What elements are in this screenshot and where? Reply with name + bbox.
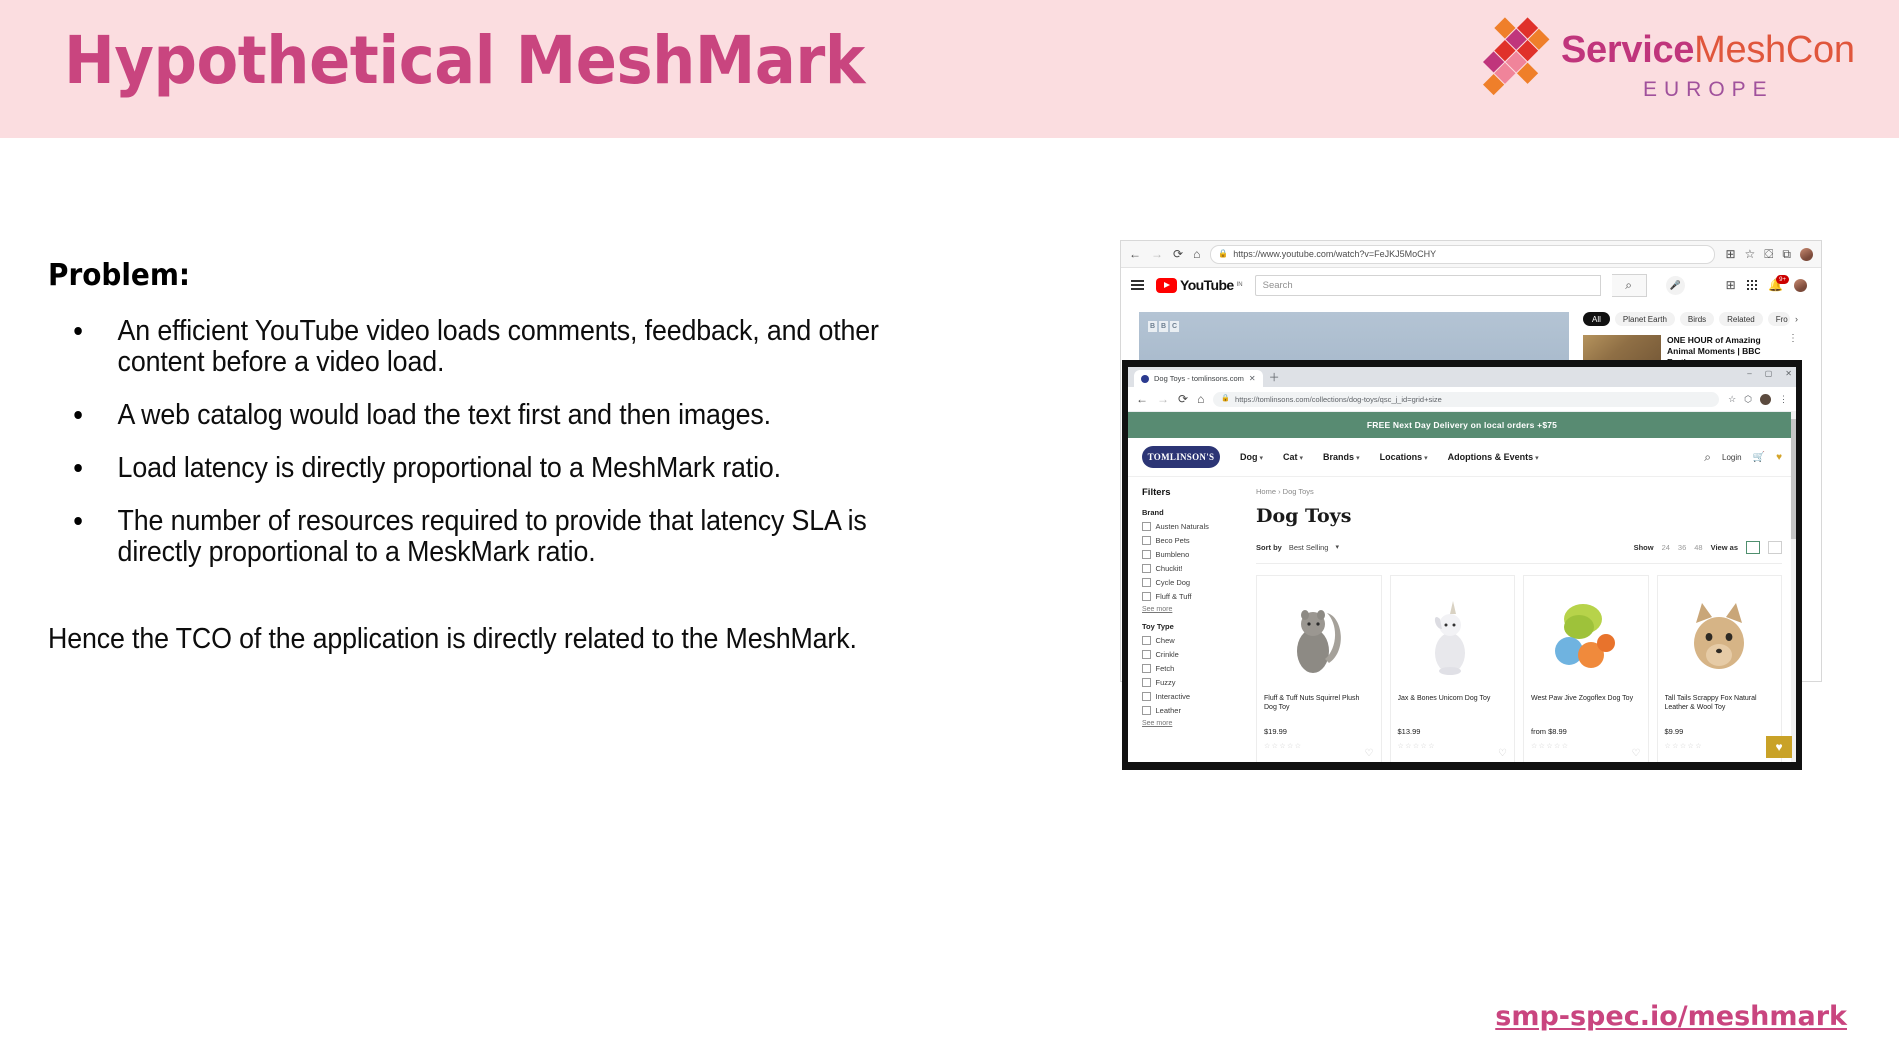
product-rating-stars: ☆☆☆☆☆	[1665, 742, 1775, 750]
filter-chip-row: All Planet Earth Birds Related Fro ›	[1583, 312, 1798, 326]
chevron-down-icon: ▾	[1260, 455, 1264, 462]
product-name: West Paw Jive Zogoflex Dog Toy	[1531, 694, 1641, 722]
view-as-label: View as	[1711, 543, 1738, 552]
meshmark-spec-link[interactable]: smp-spec.io/meshmark	[1495, 1001, 1847, 1032]
filter-option[interactable]: Crinkle	[1142, 650, 1238, 659]
login-link[interactable]: Login	[1722, 453, 1742, 462]
close-window-icon[interactable]: ✕	[1785, 369, 1792, 378]
product-price: $9.99	[1665, 727, 1775, 736]
filter-label: Interactive	[1156, 692, 1191, 701]
watermark-letter: B	[1148, 321, 1157, 332]
see-more-brands-link[interactable]: See more	[1142, 606, 1238, 613]
servicemeshcon-logo: ServiceMeshCon EUROPE	[1457, 12, 1857, 124]
bullet-dot-icon	[74, 464, 82, 472]
filter-label: Leather	[1156, 706, 1181, 715]
close-icon[interactable]: ✕	[1249, 374, 1256, 383]
show-option-36[interactable]: 36	[1678, 543, 1686, 552]
chevron-down-icon: ▾	[1535, 455, 1539, 462]
product-rating-stars: ☆☆☆☆☆	[1398, 742, 1508, 750]
product-grid: Fluff & Tuff Nuts Squirrel Plush Dog Toy…	[1256, 575, 1782, 762]
filters-sidebar: Filters Brand Austen Naturals Beco Pets …	[1142, 487, 1238, 762]
filter-option[interactable]: Fluff & Tuff	[1142, 592, 1238, 601]
see-more-toytypes-link[interactable]: See more	[1142, 720, 1238, 727]
favorite-star-icon[interactable]: ☆	[1728, 394, 1736, 405]
tomlinsons-url-text: https://tomlinsons.com/collections/dog-t…	[1235, 395, 1442, 404]
tomlinsons-address-bar[interactable]: 🔒 https://tomlinsons.com/collections/dog…	[1213, 392, 1719, 407]
checkbox-icon[interactable]	[1142, 578, 1151, 587]
filter-label: Fluff & Tuff	[1156, 592, 1192, 601]
sort-select[interactable]: Best Selling	[1289, 543, 1329, 552]
cart-icon[interactable]: 🛒	[1753, 452, 1765, 463]
store-logo[interactable]: TOMLINSON'S	[1142, 446, 1220, 468]
filters-heading: Filters	[1142, 487, 1238, 498]
watermark-letter: C	[1170, 321, 1179, 332]
nav-label: Adoptions & Events	[1448, 452, 1534, 462]
list-item: The number of resources required to prov…	[48, 506, 913, 568]
lock-icon: 🔒	[1218, 248, 1228, 260]
show-option-24[interactable]: 24	[1662, 543, 1670, 552]
nav-item-adoptions-events[interactable]: Adoptions & Events▾	[1448, 452, 1539, 462]
product-image	[1398, 583, 1508, 687]
list-item: An efficient YouTube video loads comment…	[48, 316, 913, 378]
forward-icon[interactable]: →	[1157, 393, 1169, 405]
catalog-view-controls: Show 24 36 48 View as	[1634, 541, 1782, 554]
wishlist-heart-icon[interactable]: ♡	[1498, 748, 1507, 759]
logo-meshcon-text: MeshCon	[1694, 29, 1855, 71]
tomlinsons-browser-chrome: ← → ⟳ ⌂ 🔒 https://tomlinsons.com/collect…	[1128, 387, 1796, 412]
unicorn-plush-toy-illustration	[1420, 593, 1484, 677]
filter-option[interactable]: Fuzzy	[1142, 678, 1238, 687]
forward-icon[interactable]: →	[1151, 248, 1163, 260]
nav-label: Cat	[1283, 452, 1298, 462]
nav-item-brands[interactable]: Brands▾	[1323, 452, 1360, 462]
favicon-icon	[1141, 375, 1149, 383]
checkbox-icon[interactable]	[1142, 692, 1151, 701]
nav-label: Locations	[1380, 452, 1423, 462]
meshcon-diamond-mark	[1469, 14, 1555, 100]
product-price: $13.99	[1398, 727, 1508, 736]
closing-paragraph: Hence the TCO of the application is dire…	[48, 624, 875, 655]
split-screen-icon[interactable]: ⊞	[1725, 248, 1735, 260]
voice-search-button[interactable]: 🎤	[1666, 276, 1685, 295]
reload-icon[interactable]: ⟳	[1173, 248, 1183, 260]
youtube-masthead-actions: ⊞ 🔔 9+	[1726, 279, 1811, 292]
page-title: Hypothetical MeshMark	[64, 18, 865, 104]
checkbox-icon[interactable]	[1142, 664, 1151, 673]
product-price: $19.99	[1264, 727, 1374, 736]
kebab-menu-icon[interactable]: ⋮	[1779, 394, 1788, 405]
home-icon[interactable]: ⌂	[1193, 248, 1200, 260]
nav-label: Dog	[1240, 452, 1258, 462]
avatar[interactable]	[1794, 279, 1807, 292]
filter-option[interactable]: Leather	[1142, 706, 1238, 715]
notification-count-badge: 9+	[1776, 275, 1789, 284]
youtube-play-icon	[1156, 278, 1177, 293]
checkbox-icon[interactable]	[1142, 706, 1151, 715]
logo-region-text: EUROPE	[1643, 78, 1774, 102]
catalog-layout: Filters Brand Austen Naturals Beco Pets …	[1128, 477, 1796, 762]
hamburger-menu-icon[interactable]	[1131, 280, 1144, 290]
chevron-down-icon: ▾	[1424, 455, 1428, 462]
new-tab-icon[interactable]: ＋	[1265, 369, 1280, 387]
checkbox-icon[interactable]	[1142, 522, 1151, 531]
list-item: Load latency is directly proportional to…	[48, 453, 913, 484]
wishlist-heart-icon[interactable]: ♡	[1632, 748, 1641, 759]
filter-label: Fetch	[1156, 664, 1175, 673]
youtube-url-text: https://www.youtube.com/watch?v=FeJKJ5Mo…	[1233, 249, 1436, 259]
checkbox-icon[interactable]	[1142, 564, 1151, 573]
youtube-logo[interactable]: YouTube IN	[1156, 277, 1243, 293]
filter-label: Cycle Dog	[1156, 578, 1191, 587]
favorite-star-icon[interactable]: ☆	[1745, 248, 1756, 260]
nav-label: Brands	[1323, 452, 1354, 462]
tomlinsons-browser-window: Dog Toys - tomlinsons.com ✕ ＋ – ▢ ✕ ← → …	[1122, 360, 1802, 770]
grid-view-icon[interactable]	[1746, 541, 1760, 554]
product-name: Fluff & Tuff Nuts Squirrel Plush Dog Toy	[1264, 694, 1374, 722]
back-icon[interactable]: ←	[1136, 393, 1148, 405]
search-button[interactable]: ⌕	[1612, 274, 1647, 297]
filter-label: Fuzzy	[1156, 678, 1176, 687]
filter-label: Beco Pets	[1156, 536, 1190, 545]
list-item: A web catalog would load the text first …	[48, 400, 913, 431]
window-controls: – ▢ ✕	[1747, 369, 1792, 378]
bullet-text: Load latency is directly proportional to…	[118, 452, 781, 484]
browser-screenshots-composite: ← → ⟳ ⌂ 🔒 https://www.youtube.com/watch?…	[1120, 240, 1820, 880]
filter-label: Crinkle	[1156, 650, 1179, 659]
filter-label: Chew	[1156, 636, 1175, 645]
microphone-icon: 🎤	[1670, 279, 1681, 291]
product-image	[1531, 583, 1641, 687]
collections-icon[interactable]: ⛋	[1764, 248, 1773, 260]
bullet-text: A web catalog would load the text first …	[118, 399, 771, 431]
notifications-button[interactable]: 🔔 9+	[1768, 279, 1783, 291]
browser-essentials-icon[interactable]: ⧉	[1782, 248, 1791, 260]
checkbox-icon[interactable]	[1142, 550, 1151, 559]
apps-grid-icon[interactable]	[1747, 280, 1757, 290]
youtube-chrome-actions: ⊞ ☆ ⛋ ⧉	[1725, 248, 1813, 261]
filter-group-brand-title: Brand	[1142, 508, 1238, 517]
chevron-down-icon: ▾	[1356, 455, 1360, 462]
youtube-browser-chrome: ← → ⟳ ⌂ 🔒 https://www.youtube.com/watch?…	[1121, 241, 1821, 268]
squirrel-plush-toy-illustration	[1287, 593, 1351, 677]
product-card[interactable]: West Paw Jive Zogoflex Dog Toy from $8.9…	[1523, 575, 1649, 762]
bullet-dot-icon	[74, 517, 82, 525]
product-rating-stars: ☆☆☆☆☆	[1531, 742, 1641, 750]
promo-banner: FREE Next Day Delivery on local orders +…	[1128, 412, 1796, 438]
tomlinsons-chrome-actions: ☆ ⬡ ⋮	[1728, 394, 1788, 405]
logo-wordmark: ServiceMeshCon	[1561, 28, 1855, 72]
filter-option[interactable]: Bumbleno	[1142, 550, 1238, 559]
chip-all[interactable]: All	[1583, 312, 1610, 326]
youtube-masthead: YouTube IN Search ⌕ 🎤 ⊞ 🔔 9+	[1121, 268, 1821, 302]
store-nav-actions: ⌕ Login 🛒 ♥	[1704, 451, 1782, 463]
bullet-text: An efficient YouTube video loads comment…	[118, 315, 879, 378]
back-icon[interactable]: ←	[1129, 248, 1141, 260]
product-image	[1665, 583, 1775, 687]
catalog-page-title: Dog Toys	[1256, 505, 1782, 527]
catalog-main: Home › Dog Toys Dog Toys Sort by Best Se…	[1256, 487, 1782, 762]
product-price: from $8.99	[1531, 727, 1641, 736]
wishlist-floating-button[interactable]: ♥	[1766, 736, 1792, 758]
wishlist-heart-icon[interactable]: ♡	[1365, 748, 1374, 759]
chevron-right-icon[interactable]: ›	[1795, 313, 1798, 325]
show-label: Show	[1634, 543, 1654, 552]
slide-header-band: Hypothetical MeshMark ServiceMeshCon EUR…	[0, 0, 1899, 138]
filter-option[interactable]: Chew	[1142, 636, 1238, 645]
catalog-toolbar: Sort by Best Selling ▾ Show 24 36 48 Vie…	[1256, 541, 1782, 564]
filter-option[interactable]: Cycle Dog	[1142, 578, 1238, 587]
maximize-icon[interactable]: ▢	[1765, 369, 1773, 378]
filter-option[interactable]: Fetch	[1142, 664, 1238, 673]
chip-related[interactable]: Related	[1719, 312, 1763, 326]
product-card[interactable]: Tall Tails Scrappy Fox Natural Leather &…	[1657, 575, 1783, 762]
tomlinsons-tab-bar: Dog Toys - tomlinsons.com ✕ ＋ – ▢ ✕	[1128, 367, 1796, 387]
bullet-text: The number of resources required to prov…	[118, 505, 867, 568]
search-icon[interactable]: ⌕	[1704, 451, 1711, 463]
checkbox-icon[interactable]	[1142, 678, 1151, 687]
chevron-down-icon: ▾	[1300, 455, 1304, 462]
show-option-48[interactable]: 48	[1694, 543, 1702, 552]
product-rating-stars: ☆☆☆☆☆	[1264, 742, 1374, 750]
tab-dog-toys[interactable]: Dog Toys - tomlinsons.com ✕	[1134, 370, 1263, 387]
chip-birds[interactable]: Birds	[1680, 312, 1714, 326]
filter-group-toytype-title: Toy Type	[1142, 622, 1238, 631]
filter-option[interactable]: Beco Pets	[1142, 536, 1238, 545]
nav-item-cat[interactable]: Cat▾	[1283, 452, 1303, 462]
problem-bullet-list: An efficient YouTube video loads comment…	[48, 316, 968, 568]
product-name: Tall Tails Scrappy Fox Natural Leather &…	[1665, 694, 1775, 722]
breadcrumb: Home › Dog Toys	[1256, 487, 1782, 496]
product-name: Jax & Bones Unicorn Dog Toy	[1398, 694, 1508, 722]
checkbox-icon[interactable]	[1142, 650, 1151, 659]
lock-icon: 🔒	[1221, 393, 1230, 405]
product-image	[1264, 583, 1374, 687]
list-view-icon[interactable]	[1768, 541, 1782, 554]
home-icon[interactable]: ⌂	[1197, 393, 1204, 405]
youtube-country-code: IN	[1237, 282, 1243, 288]
product-card[interactable]: Fluff & Tuff Nuts Squirrel Plush Dog Toy…	[1256, 575, 1382, 762]
tab-title: Dog Toys - tomlinsons.com	[1154, 374, 1244, 383]
zogoflex-dog-toy-illustration	[1549, 593, 1623, 677]
wishlist-heart-icon[interactable]: ♥	[1776, 452, 1782, 463]
youtube-address-bar[interactable]: 🔒 https://www.youtube.com/watch?v=FeJKJ5…	[1210, 245, 1715, 264]
filter-label: Bumbleno	[1156, 550, 1190, 559]
filter-label: Austen Naturals	[1156, 522, 1209, 531]
filter-option[interactable]: Chuckit!	[1142, 564, 1238, 573]
filter-option[interactable]: Austen Naturals	[1142, 522, 1238, 531]
filter-option[interactable]: Interactive	[1142, 692, 1238, 701]
problem-heading: Problem:	[48, 258, 904, 294]
product-card[interactable]: Jax & Bones Unicorn Dog Toy $13.99 ☆☆☆☆☆…	[1390, 575, 1516, 762]
bullet-dot-icon	[74, 411, 82, 419]
chevron-down-icon[interactable]: ▾	[1335, 542, 1339, 554]
logo-service-text: Service	[1561, 29, 1694, 71]
watermark-letter: B	[1159, 321, 1168, 332]
checkbox-icon[interactable]	[1142, 536, 1151, 545]
nav-item-dog[interactable]: Dog▾	[1240, 452, 1263, 462]
tomlinsons-viewport: Dog Toys - tomlinsons.com ✕ ＋ – ▢ ✕ ← → …	[1128, 367, 1796, 762]
extension-icon[interactable]: ⬡	[1744, 394, 1752, 405]
chip-planet-earth[interactable]: Planet Earth	[1615, 312, 1675, 326]
youtube-wordmark: YouTube	[1180, 277, 1234, 293]
reload-icon[interactable]: ⟳	[1178, 393, 1188, 405]
filter-label: Chuckit!	[1156, 564, 1183, 573]
create-video-icon[interactable]: ⊞	[1726, 279, 1736, 291]
avatar[interactable]	[1760, 394, 1771, 405]
bullet-dot-icon	[74, 327, 82, 335]
slide-content: Problem: An efficient YouTube video load…	[48, 258, 968, 655]
search-input[interactable]: Search	[1255, 275, 1601, 296]
search-icon: ⌕	[1625, 279, 1632, 291]
scrappy-fox-toy-illustration	[1684, 593, 1754, 677]
avatar[interactable]	[1800, 248, 1813, 261]
store-navbar: TOMLINSON'S Dog▾ Cat▾ Brands▾ Locations▾…	[1128, 438, 1796, 477]
bbc-watermark-icon: B B C	[1148, 321, 1179, 332]
chip-from[interactable]: Fro	[1768, 312, 1790, 326]
minimize-icon[interactable]: –	[1747, 369, 1751, 378]
checkbox-icon[interactable]	[1142, 592, 1151, 601]
nav-item-locations[interactable]: Locations▾	[1380, 452, 1428, 462]
scrollbar-thumb[interactable]	[1791, 419, 1796, 539]
sort-label: Sort by	[1256, 543, 1282, 552]
checkbox-icon[interactable]	[1142, 636, 1151, 645]
